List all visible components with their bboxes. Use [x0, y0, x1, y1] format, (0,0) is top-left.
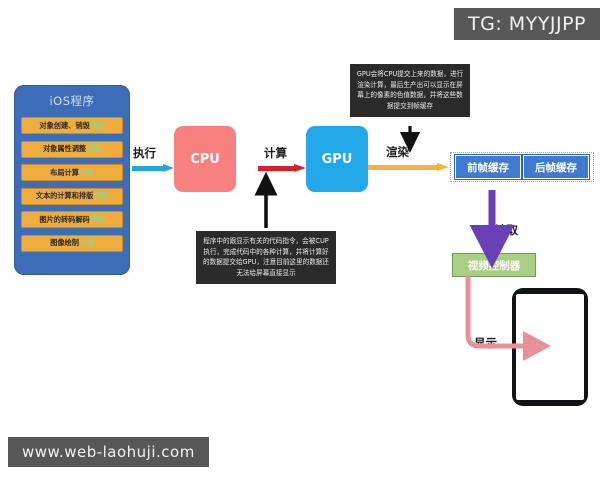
ios-item-suffix: 代码: [87, 144, 101, 154]
read-arrow-label: 读取: [495, 222, 518, 238]
ios-item-suffix: 代码: [79, 168, 93, 178]
render-arrow-label: 渲染: [386, 144, 409, 160]
ios-program-title: iOS程序: [49, 93, 94, 109]
execute-arrow-label: 执行: [133, 145, 156, 161]
cpu-box: CPU: [174, 126, 236, 192]
compute-arrow-label: 计算: [264, 145, 287, 161]
back-frame-buffer: 后帧缓存: [523, 155, 589, 179]
execute-arrow: [132, 164, 174, 173]
list-item: 图像绘制代码: [21, 235, 123, 252]
list-item: 布局计算代码: [21, 164, 123, 181]
ios-item-label: 图像绘制: [50, 238, 79, 248]
gpu-box: GPU: [306, 126, 368, 192]
list-item: 图片的转码解码代码: [21, 211, 123, 228]
list-item: 文本的计算和排版代码: [21, 188, 123, 205]
ios-item-label: 图片的转码解码: [39, 215, 89, 225]
ios-item-label: 文本的计算和排版: [36, 191, 94, 201]
frame-buffer-group: 前帧缓存 后帧缓存: [450, 152, 594, 182]
ios-program-panel: iOS程序 对象创建、销毁代码 对象属性调整代码 布局计算代码 文本的计算和排版…: [14, 85, 130, 275]
telegram-watermark: TG: MYYJJPP: [454, 8, 600, 40]
cpu-note: 程序中的跟显示有关的代码指令，会被CUP执行，完成代码中的各种计算，并将计算好的…: [196, 231, 336, 284]
diagram-canvas: TG: MYYJJPP www.web-laohuji.com iOS程序 对象…: [0, 0, 600, 480]
ios-item-label: 对象创建、销毁: [39, 121, 89, 131]
ios-item-suffix: 代码: [90, 215, 104, 225]
ios-item-label: 布局计算: [50, 168, 79, 178]
display-arrow-label: 显示: [474, 335, 497, 351]
phone-device: [512, 288, 588, 406]
compute-arrow: [258, 164, 306, 173]
site-watermark: www.web-laohuji.com: [8, 437, 209, 467]
front-frame-buffer: 前帧缓存: [455, 155, 521, 179]
list-item: 对象属性调整代码: [21, 141, 123, 158]
ios-item-suffix: 代码: [79, 238, 93, 248]
ios-item-suffix: 代码: [90, 121, 104, 131]
phone-screen: [516, 294, 584, 400]
ios-item-suffix: 代码: [94, 191, 108, 201]
render-arrow: [368, 163, 450, 172]
gpu-note: GPU会将CPU提交上来的数据，进行渲染计算，最后生产出可以显示在屏幕上的像素的…: [350, 64, 470, 117]
list-item: 对象创建、销毁代码: [21, 117, 123, 134]
ios-item-label: 对象属性调整: [43, 144, 86, 154]
video-controller-box: 视频控制器: [452, 253, 536, 277]
